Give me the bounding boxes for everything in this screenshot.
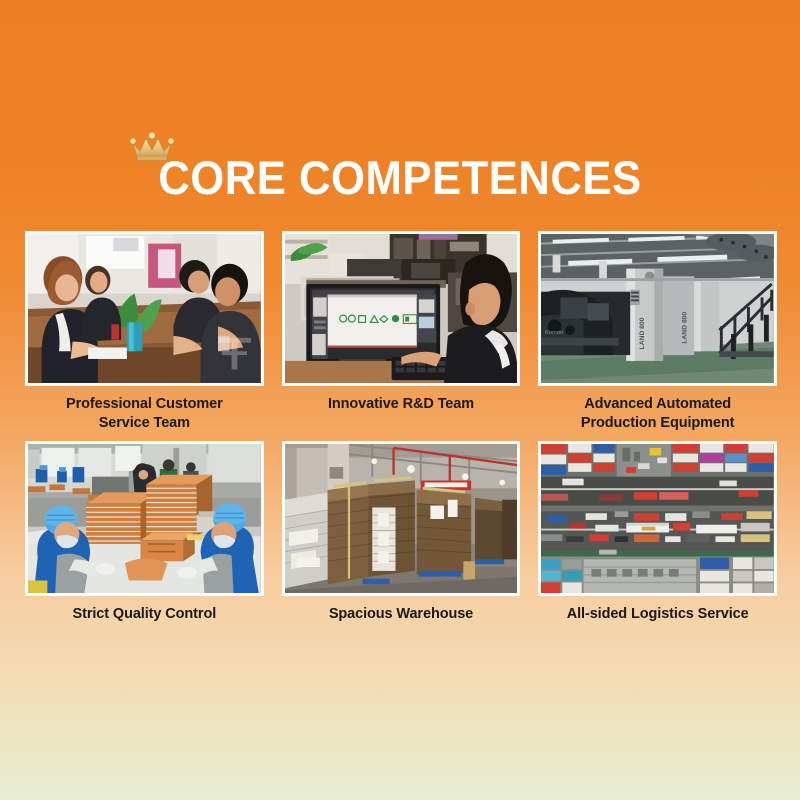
card-caption: Spacious Warehouse: [282, 605, 521, 624]
svg-text:LAND 800: LAND 800: [639, 317, 646, 349]
card-photo: LAND 800 LAND 800: [538, 231, 777, 386]
card-caption: All-sided Logistics Service: [538, 605, 777, 624]
page-title: CORE COMPETENCES: [158, 150, 641, 205]
card-caption: Innovative R&D Team: [282, 395, 521, 414]
card-caption: Advanced Automated Production Equipment: [538, 395, 777, 433]
title-block: CORE COMPETENCES: [0, 150, 800, 205]
press-photo: LAND 800 LAND 800: [541, 234, 774, 383]
card-photo: [538, 441, 777, 596]
competence-card[interactable]: Professional Customer Service Team: [25, 231, 264, 433]
svg-text:Komori: Komori: [545, 330, 564, 336]
warehouse-photo: [285, 444, 518, 593]
competence-cards-grid: Professional Customer Service Team: [25, 231, 777, 624]
competence-card[interactable]: Strict Quality Control: [25, 441, 264, 624]
card-caption: Strict Quality Control: [25, 605, 264, 624]
card-photo: [282, 231, 521, 386]
core-competences-page: CORE COMPETENCES: [0, 0, 800, 800]
card-photo: [25, 441, 264, 596]
logistics-photo: [541, 444, 774, 593]
designer-photo: [285, 234, 518, 383]
quality-control-photo: [28, 444, 261, 593]
competence-card[interactable]: All-sided Logistics Service: [538, 441, 777, 624]
competence-card[interactable]: LAND 800 LAND 800: [538, 231, 777, 433]
competence-card[interactable]: Innovative R&D Team: [282, 231, 521, 433]
card-caption: Professional Customer Service Team: [25, 395, 264, 433]
card-photo: [25, 231, 264, 386]
card-photo: [282, 441, 521, 596]
svg-text:LAND 800: LAND 800: [682, 312, 689, 344]
competence-card[interactable]: Spacious Warehouse: [282, 441, 521, 624]
title-inner: CORE COMPETENCES: [140, 150, 660, 205]
meeting-photo: [28, 234, 261, 383]
